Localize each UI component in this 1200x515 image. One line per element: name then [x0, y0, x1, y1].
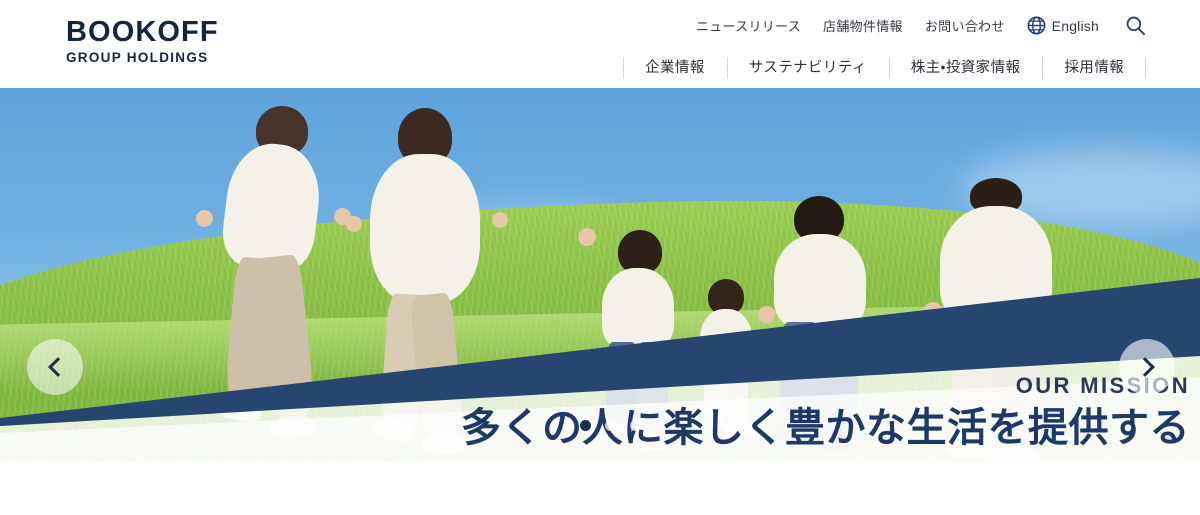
logo-tagline: GROUP HOLDINGS [66, 51, 219, 65]
carousel-dot-1[interactable] [580, 420, 591, 431]
below-hero-area [0, 463, 1200, 515]
hero-carousel: OUR MISSION 多くの人に楽しく豊かな生活を提供する [0, 88, 1200, 463]
carousel-prev-button[interactable] [27, 339, 83, 395]
language-label: English [1052, 18, 1099, 34]
page-root: BOOKOFF GROUP HOLDINGS ニュースリリース 店舗物件情報 お… [0, 0, 1200, 515]
site-logo[interactable]: BOOKOFF GROUP HOLDINGS [66, 17, 219, 65]
main-nav-item-recruit[interactable]: 採用情報 [1042, 56, 1146, 80]
utility-nav: ニュースリリース 店舗物件情報 お問い合わせ English [696, 15, 1146, 36]
utility-nav-item-contact[interactable]: お問い合わせ [925, 16, 1005, 35]
logo-wordmark: BOOKOFF [66, 17, 219, 47]
language-switcher[interactable]: English [1027, 16, 1099, 35]
utility-nav-item-store-property-info[interactable]: 店舗物件情報 [823, 16, 903, 35]
main-nav-item-ir-investors[interactable]: 株主・投資家情報 [889, 56, 1043, 80]
utility-nav-item-news-release[interactable]: ニュースリリース [696, 16, 801, 35]
carousel-dot-2[interactable] [605, 420, 616, 431]
hero-headline: 多くの人に楽しく豊かな生活を提供する [461, 405, 1190, 451]
search-icon[interactable] [1125, 15, 1146, 36]
main-nav: 企業情報 サステナビリティ 株主・投資家情報 採用情報 [623, 56, 1146, 80]
hero-text-block: OUR MISSION 多くの人に楽しく豊かな生活を提供する [461, 375, 1190, 451]
hero-eyebrow: OUR MISSION [461, 375, 1190, 397]
globe-icon [1027, 16, 1046, 35]
main-nav-item-sustainability[interactable]: サステナビリティ [727, 56, 889, 80]
site-header: BOOKOFF GROUP HOLDINGS ニュースリリース 店舗物件情報 お… [0, 0, 1200, 88]
chevron-right-icon [1135, 357, 1155, 377]
carousel-dots [580, 420, 641, 431]
chevron-left-icon [48, 357, 68, 377]
carousel-dot-3[interactable] [630, 420, 641, 431]
main-nav-item-corporate-info[interactable]: 企業情報 [623, 56, 727, 80]
carousel-next-button[interactable] [1119, 339, 1175, 395]
hero-figure-woman-1 [196, 98, 346, 438]
